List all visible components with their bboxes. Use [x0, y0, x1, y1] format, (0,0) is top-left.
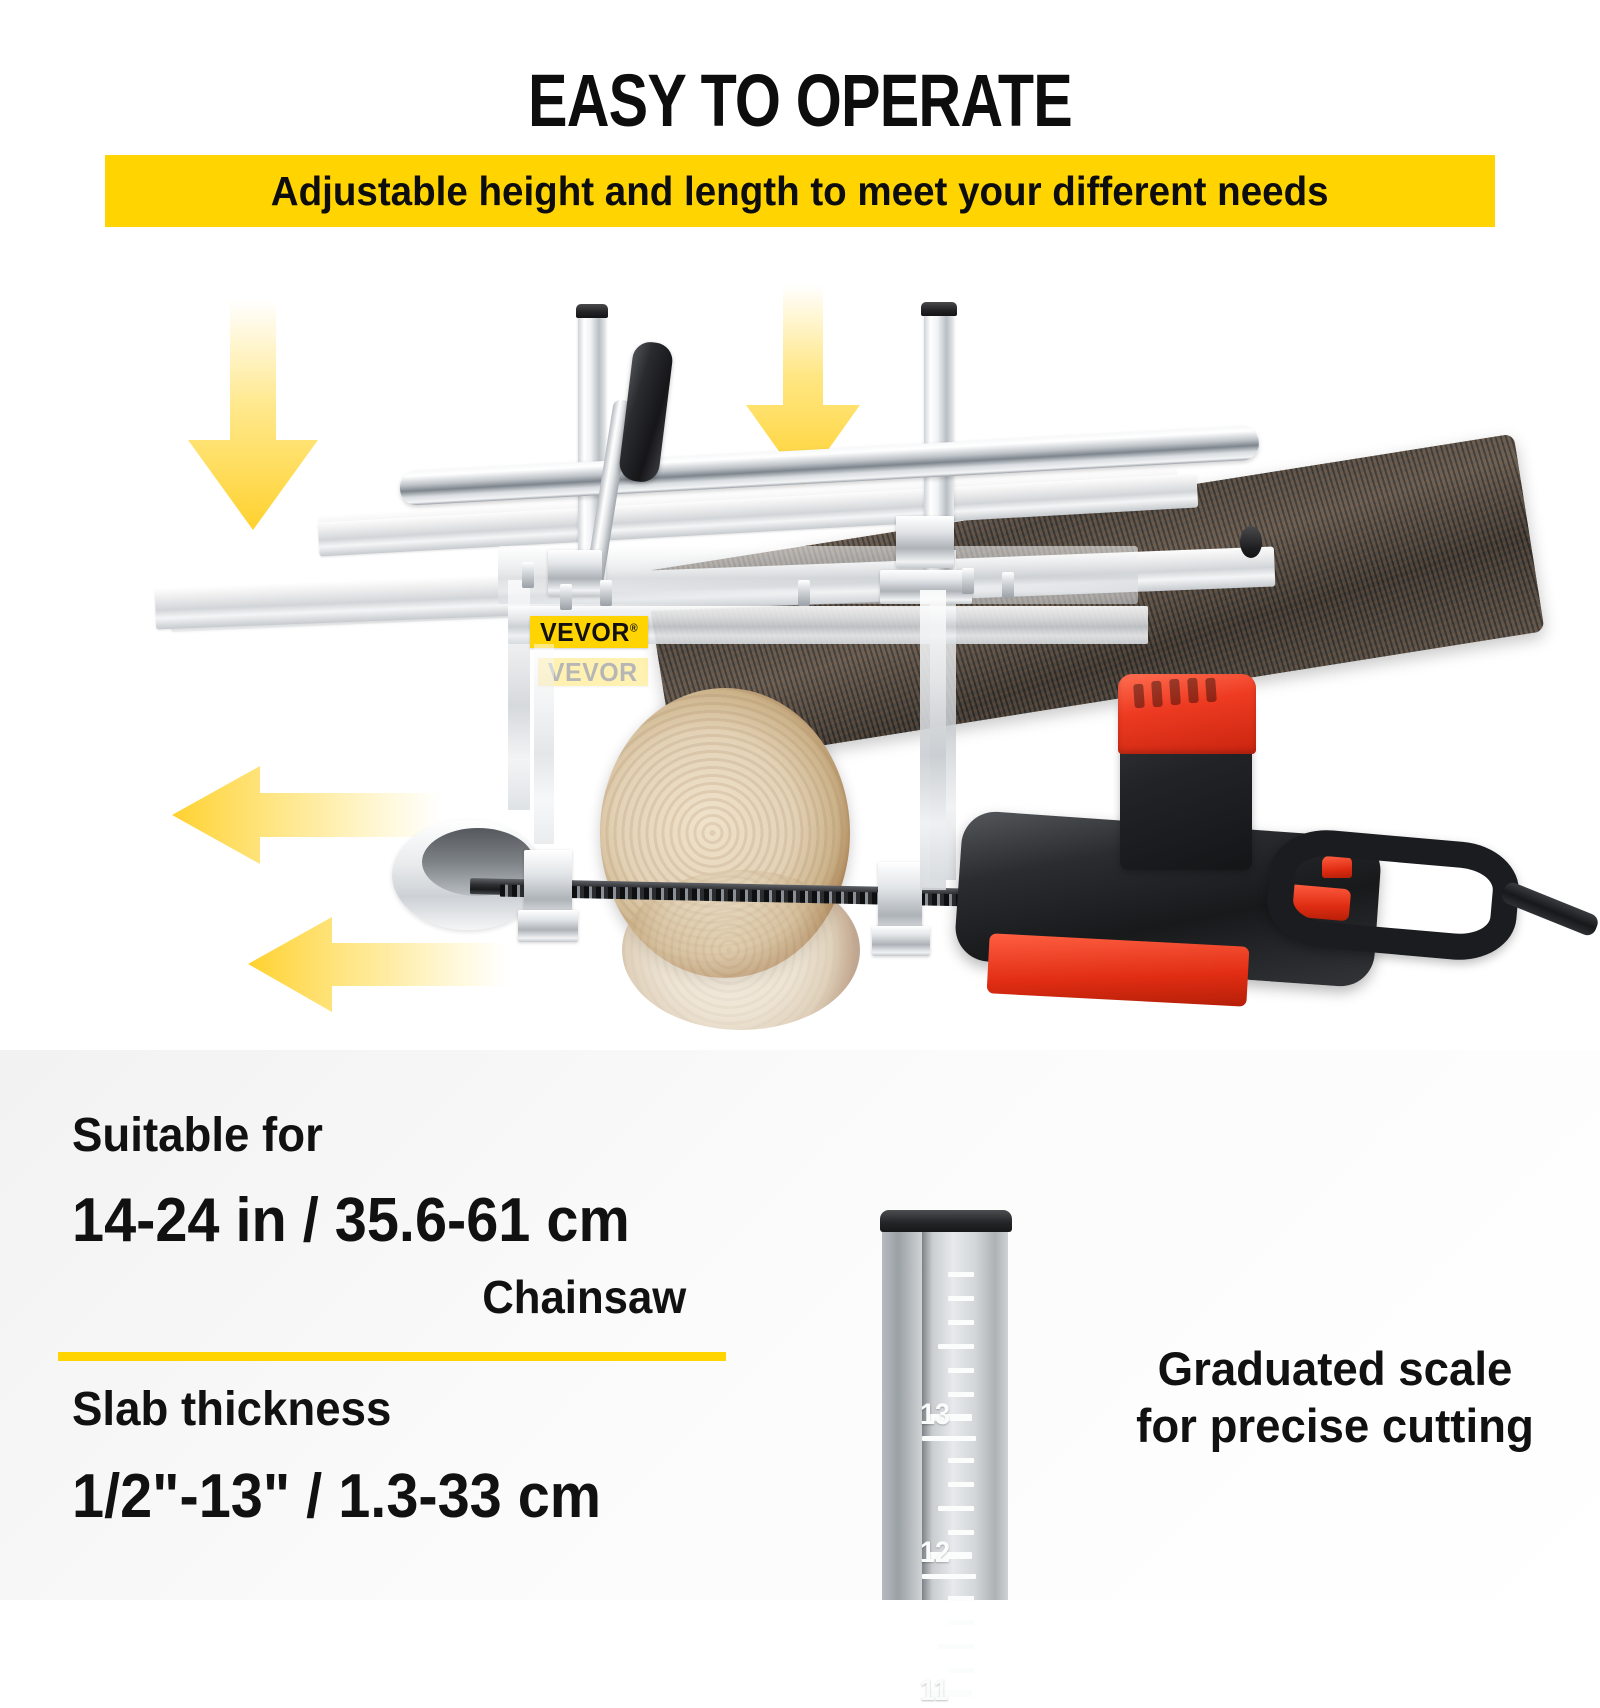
motor-vent-2	[1151, 681, 1163, 708]
graduated-scale-note-line2: for precise cutting	[1093, 1397, 1578, 1454]
bracket-right	[896, 516, 954, 568]
ruler-tick-minor	[948, 1620, 974, 1625]
vertical-drop-post-2	[534, 644, 554, 844]
bolt-d	[798, 580, 810, 606]
motor-vent-1	[1133, 684, 1145, 709]
bracket-left	[548, 550, 602, 596]
ruler-tick-minor	[948, 1482, 974, 1487]
motor-vent-5	[1205, 678, 1217, 703]
bar-clamp-right-lower	[872, 926, 930, 956]
ruler-tick-minor	[948, 1392, 974, 1397]
subtitle-text: Adjustable height and length to meet you…	[271, 168, 1329, 215]
spec-value-chainsaw-size: 14-24 in / 35.6-61 cm	[72, 1185, 658, 1256]
product-infographic: EASY TO OPERATE Adjustable height and le…	[0, 0, 1600, 1600]
brand-name-reflection: VEVOR	[548, 657, 638, 688]
brand-badge-reflection: VEVOR	[538, 658, 648, 686]
graduated-scale-note-line1: Graduated scale	[1093, 1340, 1578, 1397]
graduated-scale-ruler: 13 12 11	[876, 1200, 1026, 1600]
bolt-b	[560, 584, 572, 610]
ruler-tick-minor	[948, 1596, 974, 1601]
ruler-tick-mid	[938, 1506, 974, 1511]
motor-vent-4	[1187, 678, 1199, 704]
bar-clamp-left-lower	[518, 910, 578, 942]
ruler-tick-minor	[948, 1458, 974, 1463]
guide-bar-end-cap	[1240, 526, 1262, 558]
ruler-tick-baseline-13	[922, 1436, 976, 1441]
page-title: EASY TO OPERATE	[160, 58, 1440, 143]
spec-label-slab-thickness: Slab thickness	[72, 1382, 612, 1437]
trademark-symbol: ®	[630, 622, 638, 634]
bolt-f	[1002, 572, 1014, 598]
ruler-end-cap	[880, 1210, 1012, 1232]
spec-value-slab-thickness: 1/2"-13" / 1.3-33 cm	[72, 1461, 601, 1532]
ruler-tick-minor	[948, 1368, 974, 1373]
post-cap-left	[576, 304, 608, 318]
ruler-tick-mid	[938, 1344, 974, 1349]
spec-block-slab: Slab thickness 1/2"-13" / 1.3-33 cm	[72, 1382, 641, 1532]
spec-divider	[58, 1352, 726, 1361]
bolt-a	[522, 562, 534, 588]
chainsaw-chain-cover	[987, 933, 1250, 1007]
ruler-side-face	[882, 1224, 922, 1600]
vertical-drop-post	[920, 590, 946, 890]
ruler-tick-minor	[948, 1272, 974, 1277]
brand-name: VEVOR®	[540, 617, 638, 648]
bolt-c	[600, 580, 612, 606]
ruler-tick-minor	[948, 1320, 974, 1325]
ruler-tick-baseline-12	[922, 1574, 976, 1579]
ruler-label-11: 11	[920, 1674, 949, 1708]
ruler-tick-mid	[938, 1644, 974, 1649]
subtitle-banner: Adjustable height and length to meet you…	[105, 155, 1495, 227]
ruler-label-13: 13	[920, 1398, 950, 1432]
graduated-scale-note: Graduated scale for precise cutting	[1093, 1340, 1578, 1455]
ruler-tick-minor	[948, 1296, 974, 1301]
spec-block-chainsaw: Suitable for 14-24 in / 35.6-61 cm Chain…	[72, 1108, 702, 1324]
product-illustration: VEVOR® VEVOR	[0, 250, 1600, 1090]
motor-vent-3	[1169, 679, 1181, 706]
ruler-tick-minor	[948, 1668, 974, 1673]
ruler-tick-minor	[948, 1530, 974, 1535]
bolt-e	[962, 568, 974, 594]
post-cap-right	[921, 302, 957, 316]
spec-label-suitable-for: Suitable for	[72, 1108, 671, 1163]
ruler-label-12: 12	[920, 1536, 950, 1570]
spec-qualifier-chainsaw: Chainsaw	[88, 1270, 687, 1324]
